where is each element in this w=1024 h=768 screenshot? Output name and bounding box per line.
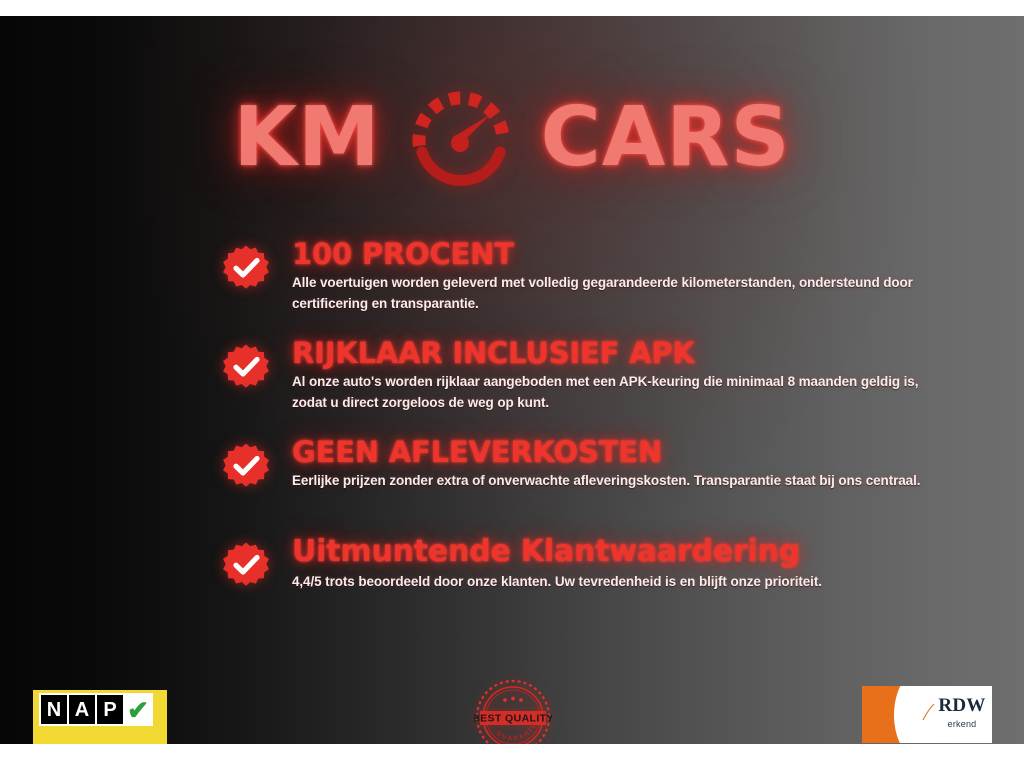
nap-logo: N A P ✔ <box>33 690 167 744</box>
nap-check-icon: ✔ <box>123 693 153 726</box>
brand-logo: KM CARS <box>0 78 1024 198</box>
best-quality-stamp: BEST QUALITY GUARANTEED <box>474 678 552 744</box>
promo-banner: KM CARS <box>0 16 1024 744</box>
feature-item-3: Uitmuntende Klantwaardering 4,4/5 trots … <box>0 535 1024 613</box>
feature-description: 4,4/5 trots beoordeeld door onze klanten… <box>292 572 822 593</box>
feature-item-1: RIJKLAAR INCLUSIEF APK Al onze auto's wo… <box>0 337 1024 415</box>
speedometer-icon <box>403 82 519 194</box>
feature-description: Al onze auto's worden rijklaar aangebode… <box>292 372 932 413</box>
check-badge-icon <box>222 244 270 292</box>
feature-title: Uitmuntende Klantwaardering <box>292 535 822 569</box>
feature-description: Alle voertuigen worden geleverd met voll… <box>292 273 932 314</box>
rdw-sublabel: erkend <box>937 720 987 729</box>
feature-title: 100 PROCENT <box>292 238 932 270</box>
nap-letter-a: A <box>67 693 97 726</box>
logo-word-cars: CARS <box>541 97 791 179</box>
footer-badges: N A P ✔ BEST QUALITY GUARANT <box>0 672 1024 744</box>
logo-word-km: KM <box>234 97 381 179</box>
feature-description: Eerlijke prijzen zonder extra of onverwa… <box>292 471 920 492</box>
feature-item-2: GEEN AFLEVERKOSTEN Eerlijke prijzen zond… <box>0 436 1024 514</box>
feature-list: 100 PROCENT Alle voertuigen worden gelev… <box>0 238 1024 634</box>
rdw-logo: RDW erkend <box>862 686 992 743</box>
check-badge-icon <box>222 541 270 589</box>
nap-letter-n: N <box>39 693 69 726</box>
svg-text:BEST QUALITY: BEST QUALITY <box>474 713 552 725</box>
check-badge-icon <box>222 343 270 391</box>
nap-letter-p: P <box>95 693 125 726</box>
feature-title: RIJKLAAR INCLUSIEF APK <box>292 337 932 369</box>
rdw-label: RDW <box>937 696 987 715</box>
check-badge-icon <box>222 442 270 490</box>
feature-title: GEEN AFLEVERKOSTEN <box>292 436 920 468</box>
feature-item-0: 100 PROCENT Alle voertuigen worden gelev… <box>0 238 1024 316</box>
